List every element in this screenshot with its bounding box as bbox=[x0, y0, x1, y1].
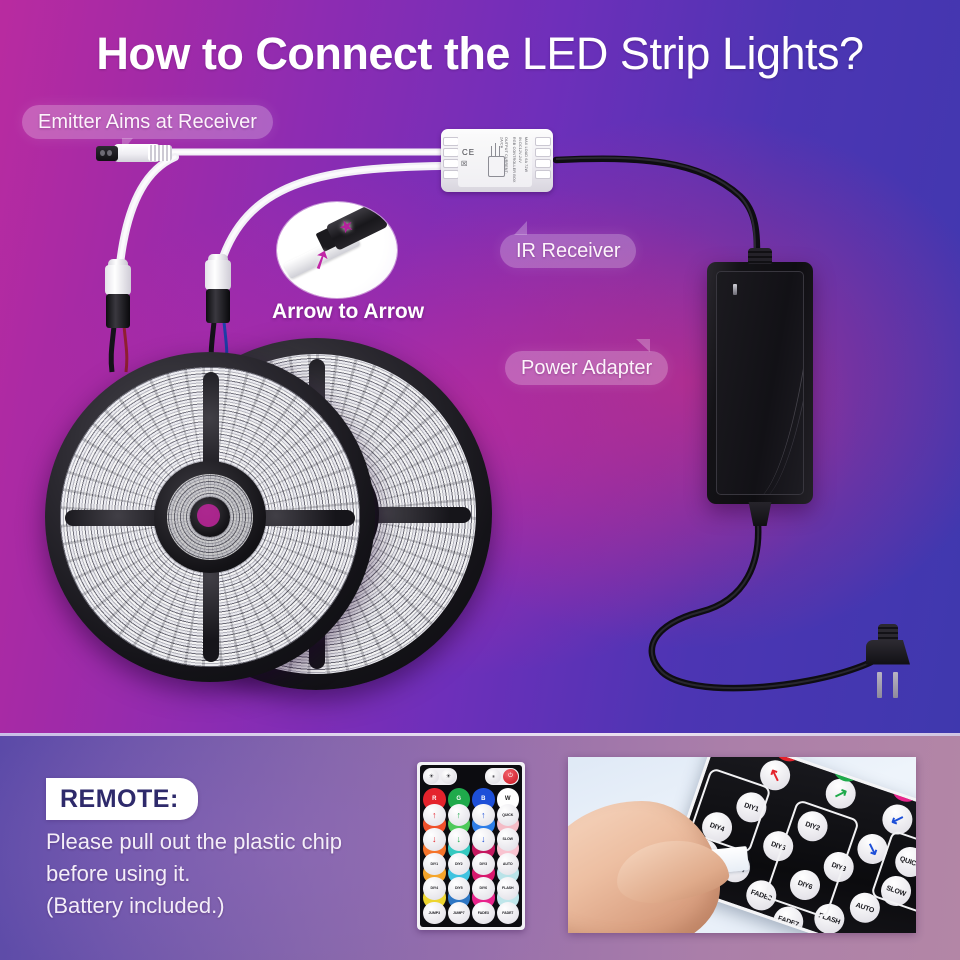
remote-function-key[interactable]: QUICK bbox=[497, 804, 520, 827]
arrow-to-arrow-caption: Arrow to Arrow bbox=[255, 300, 441, 324]
play-pause-icon[interactable]: ⏸ bbox=[486, 769, 501, 784]
remote-function-key-label: DIY3 bbox=[472, 853, 495, 876]
remote-function-key[interactable]: FLASH bbox=[497, 877, 520, 900]
ce-mark: CE bbox=[462, 148, 475, 157]
remote-instruction-line-1: Please pull out the plastic chip bbox=[46, 826, 376, 858]
strip-connector-left bbox=[105, 265, 131, 327]
remote-function-key[interactable]: FADE7 bbox=[497, 902, 520, 925]
remote-function-key[interactable]: DIY4 bbox=[423, 877, 446, 900]
callout-ir-receiver: IR Receiver bbox=[500, 234, 636, 268]
remote-function-key-label: SLOW bbox=[497, 828, 520, 851]
remote-function-key-label: AUTO bbox=[497, 853, 520, 876]
led-strip-reel-front bbox=[45, 352, 375, 682]
infographic-page: How to Connect the LED Strip Lights? bbox=[0, 0, 960, 960]
controller-spec-text-2: IN:DC12V-24V bbox=[517, 137, 522, 183]
remote-function-key[interactable]: DIY5 bbox=[448, 877, 471, 900]
remote-function-key-label: DIY4 bbox=[423, 877, 446, 900]
remote-function-key[interactable]: ↓ bbox=[472, 828, 495, 851]
remote-top-row: ☀ ☀ ⏸ ⏻ bbox=[423, 768, 519, 785]
remote-function-key[interactable]: ↑ bbox=[448, 804, 471, 827]
remote-function-key[interactable]: JUMP7 bbox=[448, 902, 471, 925]
callout-emitter: Emitter Aims at Receiver bbox=[22, 105, 273, 139]
remote-function-key-label: ↓ bbox=[448, 828, 471, 851]
remote-heading-banner: REMOTE: bbox=[46, 778, 198, 820]
remote-function-key-label: ↑ bbox=[448, 804, 471, 827]
remote-function-key-label: ↓ bbox=[423, 828, 446, 851]
callout-emitter-label: Emitter Aims at Receiver bbox=[38, 111, 257, 133]
remote-function-key-label: DIY2 bbox=[448, 853, 471, 876]
remote-function-key-label: ↑ bbox=[423, 804, 446, 827]
remote-function-key[interactable]: DIY2 bbox=[448, 853, 471, 876]
strip-connector-right bbox=[205, 260, 231, 322]
remote-function-key[interactable]: ↑ bbox=[423, 804, 446, 827]
ir-receiver-module bbox=[96, 143, 172, 163]
remote-function-key-label: DIY1 bbox=[423, 853, 446, 876]
adapter-face bbox=[716, 271, 804, 495]
controller-spec-text-4: OUTPUT CURRENT: 2A/CH bbox=[499, 137, 508, 183]
brightness-down-icon[interactable]: ☀ bbox=[441, 769, 456, 784]
remote-function-key-label: FADE7 bbox=[497, 902, 520, 925]
power-icon[interactable]: ⏻ bbox=[503, 769, 518, 784]
arrow-to-arrow-inset: ➚ ★ bbox=[277, 202, 397, 298]
remote-function-key-label: FADE3 bbox=[472, 902, 495, 925]
remote-instructions: Please pull out the plastic chip before … bbox=[46, 826, 376, 922]
remote-function-grid: ↑↑↑QUICK↓↓↓SLOWDIY1DIY2DIY3AUTODIY4DIY5D… bbox=[423, 804, 519, 925]
remote-function-key[interactable]: SLOW bbox=[497, 828, 520, 851]
remote-function-key-label: JUMP7 bbox=[448, 902, 471, 925]
remote-function-key-label: ↓ bbox=[472, 828, 495, 851]
controller-spec-text: MAX LOAD 6A 72W bbox=[523, 137, 528, 183]
remote-function-key-label: DIY5 bbox=[448, 877, 471, 900]
controller-label-face: CE ☒ MAX LOAD 6A 72W IN:DC12V-24V RGB CO… bbox=[458, 134, 532, 187]
ac-wall-plug bbox=[862, 628, 914, 700]
remote-function-key[interactable]: ↓ bbox=[423, 828, 446, 851]
photo-remote-key-group bbox=[764, 799, 860, 919]
remote-battery-chip-photo: ↖↗↙DIY1DIY2↘DIY4DIY5DIY3QUICKSLOWJUMP3DI… bbox=[568, 757, 916, 933]
ir-emitter-eye bbox=[96, 146, 118, 161]
ir-receiver-grip bbox=[148, 145, 172, 161]
remote-function-key-label: JUMP3 bbox=[423, 902, 446, 925]
callout-power-adapter-label: Power Adapter bbox=[521, 357, 652, 379]
photo-remote-color-key bbox=[887, 768, 916, 806]
ir-remote-illustration: ☀ ☀ ⏸ ⏻ RGBW ↑↑↑QUICK↓↓↓SLOWDIY1DIY2DIY3… bbox=[417, 762, 525, 930]
remote-function-key-label: QUICK bbox=[497, 804, 520, 827]
callout-ir-receiver-label: IR Receiver bbox=[516, 240, 620, 262]
remote-function-key[interactable]: JUMP3 bbox=[423, 902, 446, 925]
callout-power-adapter: Power Adapter bbox=[505, 351, 668, 385]
remote-function-key[interactable]: FADE3 bbox=[472, 902, 495, 925]
rgb-controller-box: CE ☒ MAX LOAD 6A 72W IN:DC12V-24V RGB CO… bbox=[441, 129, 553, 192]
remote-function-key-label: DIY6 bbox=[472, 877, 495, 900]
remote-function-key[interactable]: AUTO bbox=[497, 853, 520, 876]
brightness-up-icon[interactable]: ☀ bbox=[424, 769, 439, 784]
remote-function-key[interactable]: ↑ bbox=[472, 804, 495, 827]
remote-function-key[interactable]: DIY1 bbox=[423, 853, 446, 876]
adapter-cable-grommet-top bbox=[748, 248, 772, 264]
remote-function-key[interactable]: DIY6 bbox=[472, 877, 495, 900]
remote-heading-label: REMOTE: bbox=[60, 785, 179, 814]
remote-function-key-label: ↑ bbox=[472, 804, 495, 827]
remote-function-key[interactable]: ↓ bbox=[448, 828, 471, 851]
remote-function-key-label: FLASH bbox=[497, 877, 520, 900]
remote-function-key[interactable]: DIY3 bbox=[472, 853, 495, 876]
remote-instruction-line-2: before using it. bbox=[46, 858, 376, 890]
remote-instruction-line-3: (Battery included.) bbox=[46, 890, 376, 922]
power-adapter-brick bbox=[707, 262, 813, 504]
controller-spec-text-3: RGB CONTROLLER BOX bbox=[511, 137, 516, 183]
